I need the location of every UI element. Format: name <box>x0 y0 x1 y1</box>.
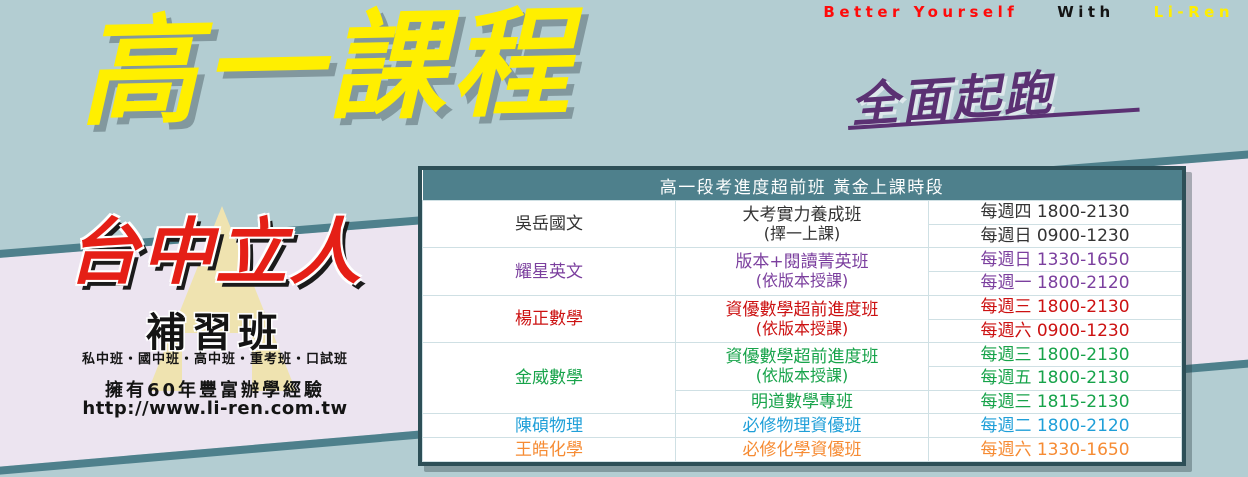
time-cell: 每週二 1800-2120 <box>929 414 1182 438</box>
time-cell: 每週三 1800-2130 <box>929 343 1182 367</box>
course-cell: 大考實力養成班(擇一上課) <box>676 201 929 248</box>
table-row: 王皓化學必修化學資優班每週六 1330-1650 <box>423 438 1182 462</box>
logo-website-url[interactable]: http://www.li-ren.com.tw <box>30 398 400 419</box>
page-title: 高一課程 <box>78 4 576 132</box>
course-cell: 版本+閱讀菁英班(依版本授課) <box>676 248 929 295</box>
time-cell: 每週六 1330-1650 <box>929 438 1182 462</box>
schedule-table-body: 吳岳國文大考實力養成班(擇一上課)每週四 1800-2130每週日 0900-1… <box>423 201 1182 462</box>
table-row: 金威數學資優數學超前進度班(依版本授課)每週三 1800-2130 <box>423 343 1182 367</box>
course-cell: 資優數學超前進度班(依版本授課) <box>676 343 929 390</box>
course-note: (依版本授課) <box>680 367 924 386</box>
course-cell: 資優數學超前進度班(依版本授課) <box>676 295 929 342</box>
time-cell: 每週一 1800-2120 <box>929 272 1182 296</box>
teacher-cell: 金威數學 <box>423 343 676 414</box>
logo-name: 台中立人 <box>30 216 400 288</box>
course-note: (擇一上課) <box>680 225 924 244</box>
schedule-table-card: 高一段考進度超前班 黃金上課時段 吳岳國文大考實力養成班(擇一上課)每週四 18… <box>418 166 1186 466</box>
course-note: (依版本授課) <box>680 320 924 339</box>
teacher-cell: 吳岳國文 <box>423 201 676 248</box>
teacher-cell: 耀星英文 <box>423 248 676 295</box>
table-row: 楊正數學資優數學超前進度班(依版本授課)每週三 1800-2130 <box>423 295 1182 319</box>
teacher-cell: 楊正數學 <box>423 295 676 342</box>
schedule-table: 高一段考進度超前班 黃金上課時段 吳岳國文大考實力養成班(擇一上課)每週四 18… <box>422 170 1182 462</box>
logo-class-list: 私中班・國中班・高中班・重考班・口試班 <box>30 348 400 367</box>
time-cell: 每週六 0900-1230 <box>929 319 1182 343</box>
time-cell: 每週四 1800-2130 <box>929 201 1182 225</box>
schedule-table-header: 高一段考進度超前班 黃金上課時段 <box>423 170 1182 201</box>
time-cell: 每週日 0900-1230 <box>929 224 1182 248</box>
table-row: 耀星英文版本+閱讀菁英班(依版本授課)每週日 1330-1650 <box>423 248 1182 272</box>
tagline-part-3: Li-Ren <box>1154 3 1234 21</box>
table-row: 吳岳國文大考實力養成班(擇一上課)每週四 1800-2130 <box>423 201 1182 225</box>
poster-canvas: Better Yourself With Li-Ren 高一課程 全面起跑 台中… <box>0 0 1248 477</box>
course-cell: 必修化學資優班 <box>676 438 929 462</box>
teacher-cell: 王皓化學 <box>423 438 676 462</box>
table-row: 陳碩物理必修物理資優班每週二 1800-2120 <box>423 414 1182 438</box>
course-note: (依版本授課) <box>680 272 924 291</box>
brand-logo: 台中立人 補習班 私中班・國中班・高中班・重考班・口試班 擁有60年豐富辦學經驗… <box>30 198 400 428</box>
teacher-cell: 陳碩物理 <box>423 414 676 438</box>
time-cell: 每週三 1815-2130 <box>929 390 1182 414</box>
time-cell: 每週日 1330-1650 <box>929 248 1182 272</box>
time-cell: 每週三 1800-2130 <box>929 295 1182 319</box>
time-cell: 每週五 1800-2130 <box>929 367 1182 391</box>
course-cell: 必修物理資優班 <box>676 414 929 438</box>
course-cell: 明道數學專班 <box>676 390 929 414</box>
tagline-part-1: Better Yourself <box>823 3 1018 21</box>
tagline-part-2: With <box>1057 3 1115 21</box>
